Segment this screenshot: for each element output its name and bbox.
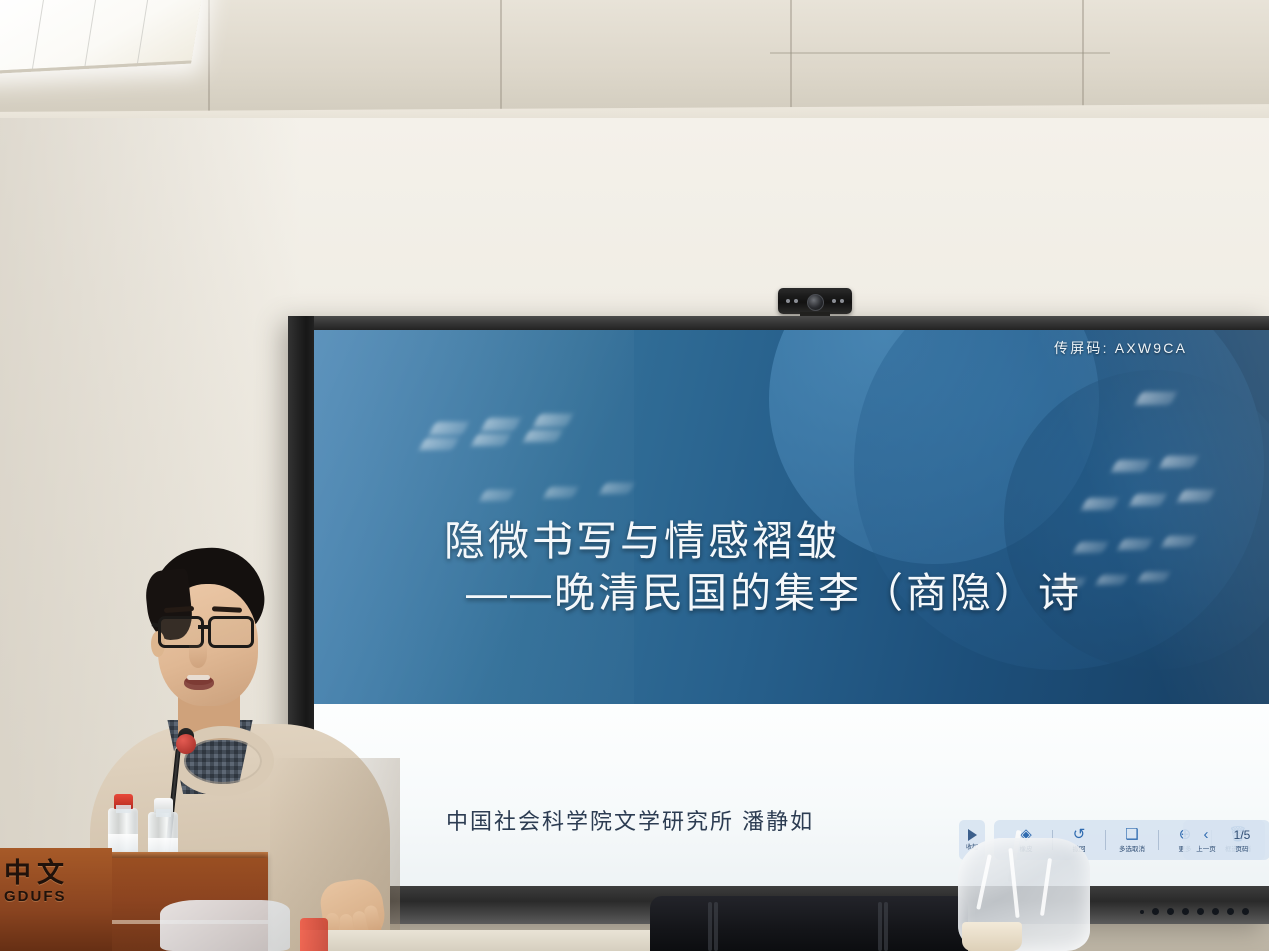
tool-multi-select-label: 多选取消 [1119, 843, 1145, 853]
tool-multi-select[interactable]: ❑ 多选取消 [1106, 827, 1158, 853]
multi-select-icon: ❑ [1125, 827, 1138, 842]
display-bezel-top [288, 316, 1269, 330]
slide-blue-banner: 传屏码: AXW9CA 隐微书写与情感褶皱 ——晚清民国的集李（商隐）诗 [314, 330, 1269, 704]
eyeglasses [152, 616, 260, 644]
interactive-flat-panel-display[interactable]: 传屏码: AXW9CA 隐微书写与情感褶皱 ——晚清民国的集李（商隐）诗 中国社… [288, 316, 1269, 924]
page-indicator-value: 1/5 [1234, 828, 1251, 842]
slide-pager[interactable]: ‹ 上一页 1/5 页码 [1183, 820, 1265, 860]
slide-author-affiliation: 中国社会科学院文学研究所 潘静如 [446, 804, 814, 836]
page-indicator: 1/5 页码 [1224, 828, 1260, 853]
camera-lens-icon [807, 294, 824, 311]
prev-page-label: 上一页 [1196, 843, 1216, 853]
paper-cup [962, 922, 1022, 951]
display-indicator-leds [1140, 908, 1249, 915]
plastic-bag-left [160, 900, 290, 951]
webcam [778, 288, 852, 314]
page-indicator-label: 页码 [1236, 843, 1249, 853]
foreground-table [300, 930, 660, 951]
podium-logo: 中文 GDUFS [4, 860, 70, 904]
screenshot-root: 传屏码: AXW9CA 隐微书写与情感褶皱 ——晚清民国的集李（商隐）诗 中国社… [0, 0, 1269, 951]
undo-arrow-icon: ↺ [1073, 827, 1086, 842]
slide-title-line2: ——晚清民国的集李（商隐）诗 [466, 567, 1082, 619]
teeth [187, 675, 210, 680]
glasses-lens-right [208, 616, 254, 648]
glasses-bridge [198, 625, 208, 629]
nose [189, 642, 207, 668]
screen-cast-code: 传屏码: AXW9CA [1054, 338, 1187, 358]
chevron-left-icon: ‹ [1204, 827, 1209, 842]
play-triangle-icon [968, 829, 977, 841]
glasses-arm [152, 622, 161, 627]
microphone-head [176, 734, 196, 754]
slide-title-line1: 隐微书写与情感褶皱 [444, 518, 840, 564]
prev-page-button[interactable]: ‹ 上一页 [1188, 827, 1224, 853]
slide-title: 隐微书写与情感褶皱 ——晚清民国的集李（商隐）诗 [444, 515, 1082, 620]
foreground-bottle [300, 918, 328, 951]
chair-back [650, 896, 968, 951]
display-screen[interactable]: 传屏码: AXW9CA 隐微书写与情感褶皱 ——晚清民国的集李（商隐）诗 中国社… [314, 330, 1269, 886]
ceiling-light-panel [0, 0, 203, 74]
podium-logo-english: GDUFS [4, 889, 70, 904]
ceiling [0, 0, 1269, 118]
podium-logo-chinese: 中文 [4, 860, 70, 888]
